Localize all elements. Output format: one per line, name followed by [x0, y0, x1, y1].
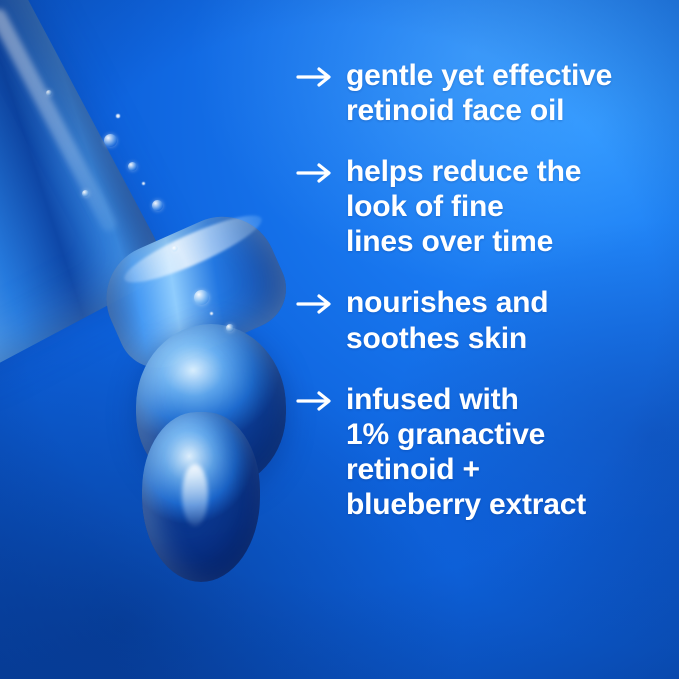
arrow-right-icon — [296, 388, 336, 414]
benefit-text: nourishes and soothes skin — [346, 285, 664, 355]
list-item: gentle yet effective retinoid face oil — [296, 58, 664, 128]
benefit-list: gentle yet effective retinoid face oil h… — [296, 58, 664, 522]
benefit-text: helps reduce the look of fine lines over… — [346, 154, 664, 259]
benefit-text: gentle yet effective retinoid face oil — [346, 58, 664, 128]
product-feature-image: gentle yet effective retinoid face oil h… — [0, 0, 679, 679]
arrow-right-icon — [296, 160, 336, 186]
benefit-text: infused with 1% granactive retinoid + bl… — [346, 382, 664, 522]
list-item: nourishes and soothes skin — [296, 285, 664, 355]
arrow-right-icon — [296, 291, 336, 317]
list-item: helps reduce the look of fine lines over… — [296, 154, 664, 259]
list-item: infused with 1% granactive retinoid + bl… — [296, 382, 664, 522]
arrow-right-icon — [296, 64, 336, 90]
